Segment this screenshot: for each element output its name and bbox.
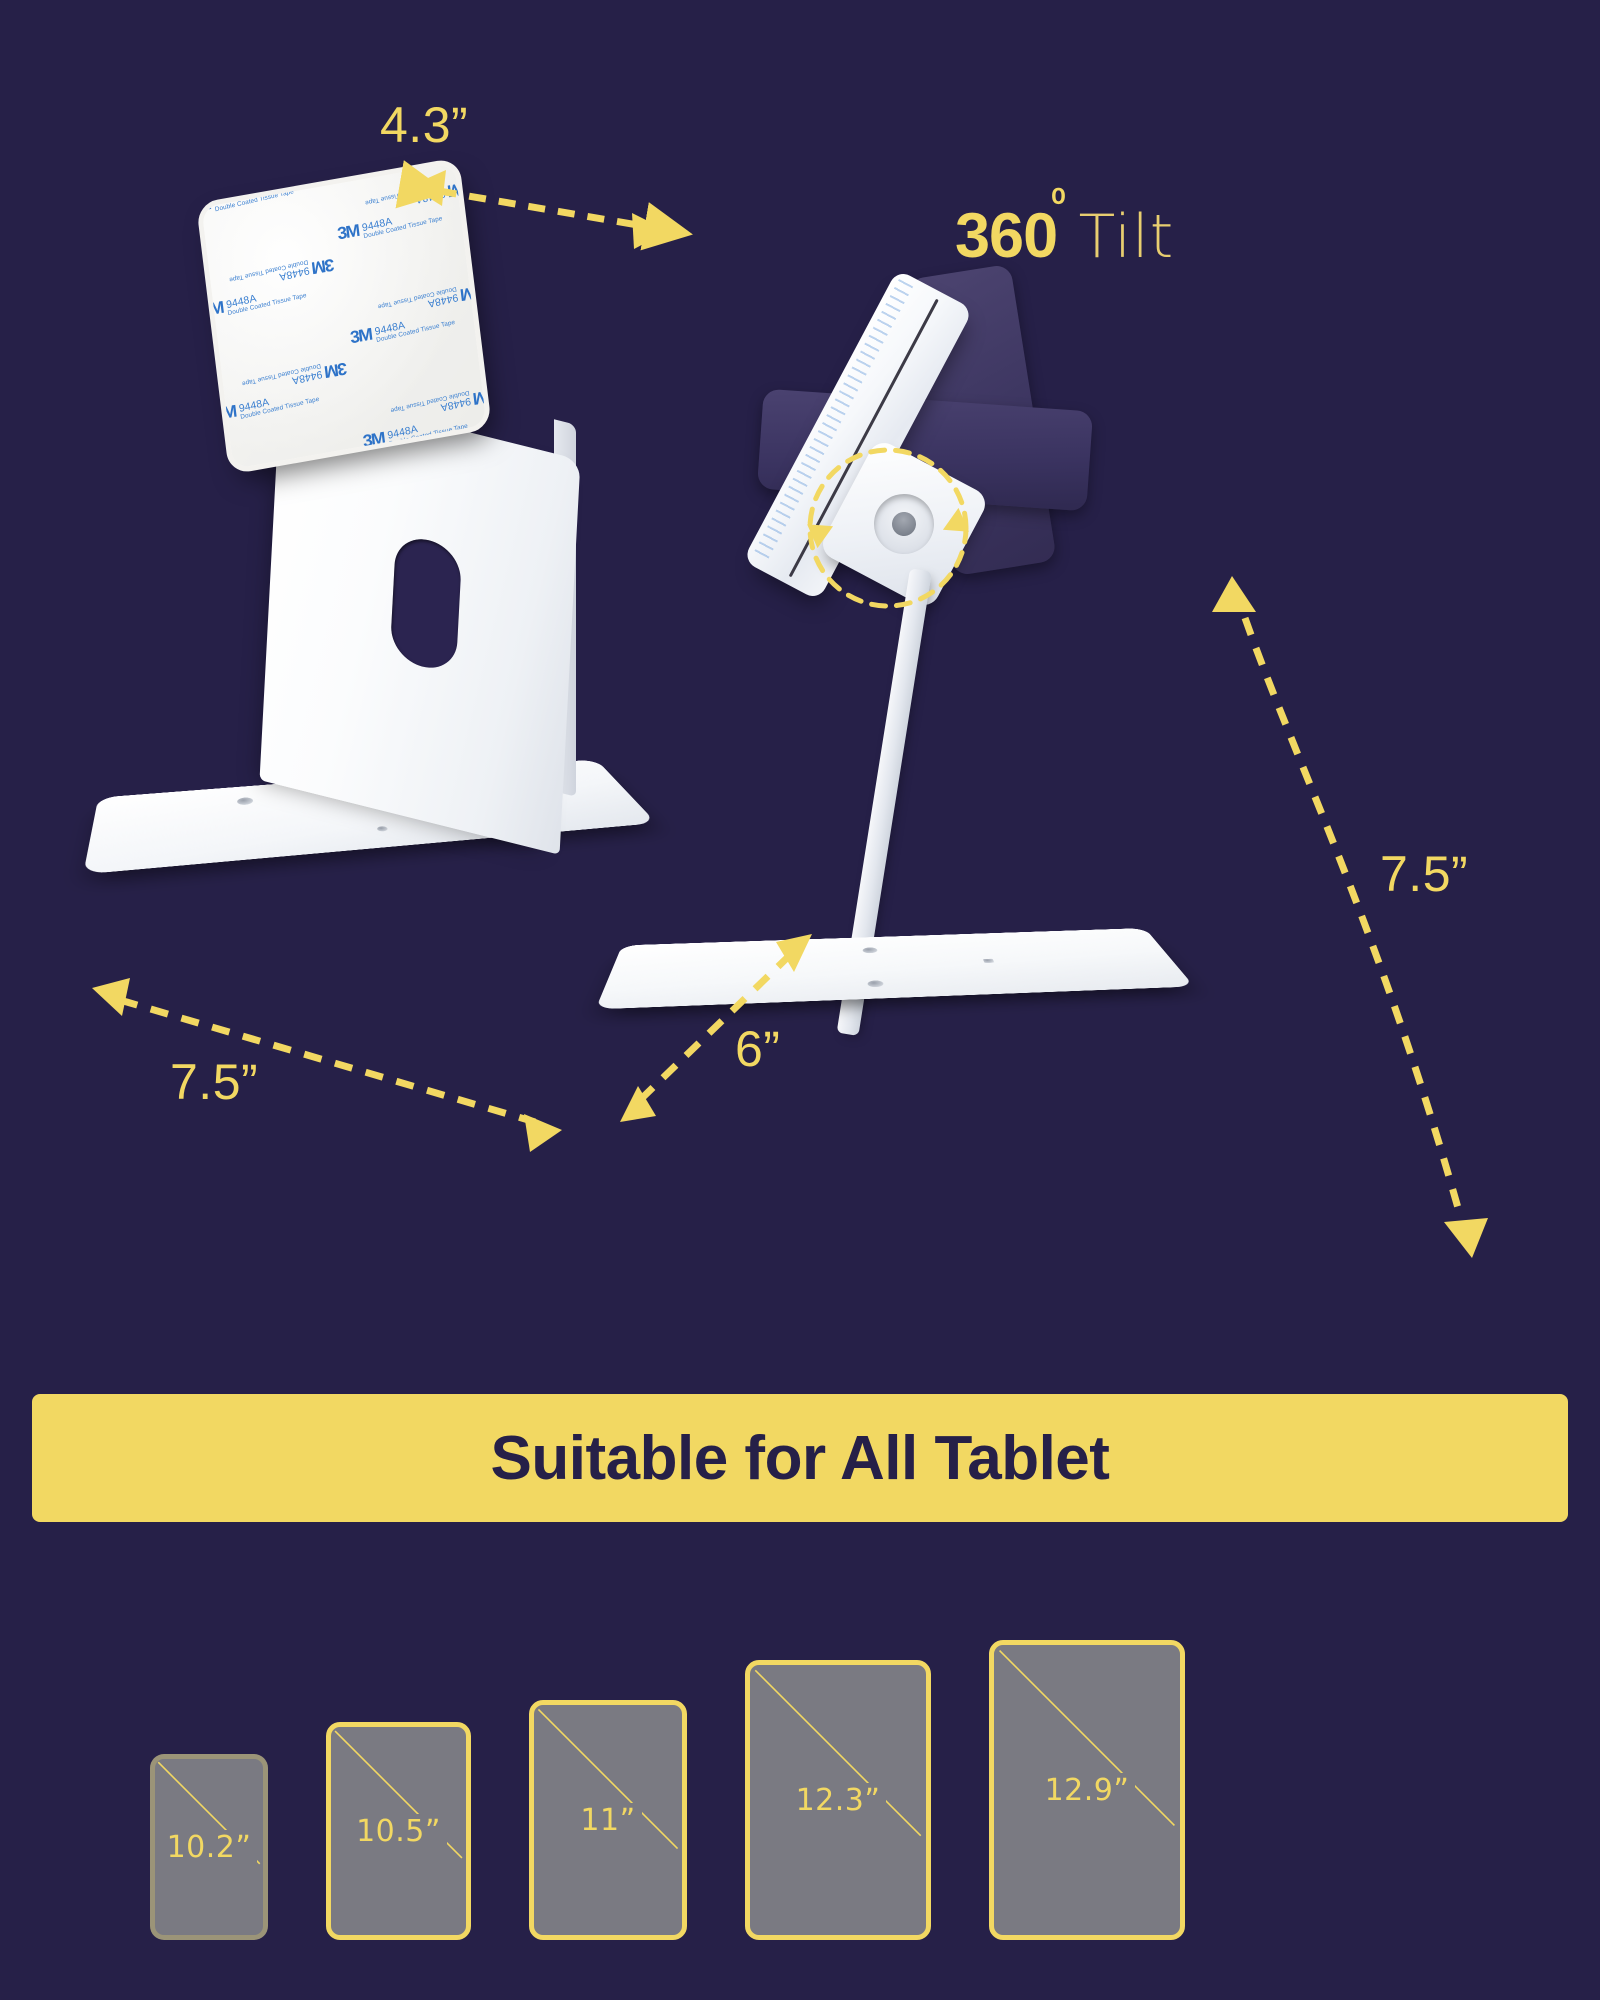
dimension-label-base-width: 7.5” bbox=[170, 1053, 258, 1111]
tilt-heading: 360⁰ Tilt bbox=[955, 205, 1174, 268]
tilt-degrees-value: 360 bbox=[955, 201, 1057, 271]
tablet-size-row: 10.2”10.5”11”12.3”12.9” bbox=[150, 1580, 1450, 1940]
degree-symbol-icon: ⁰ bbox=[1051, 182, 1064, 223]
tape-print-pattern: 3M9448ADouble Coated Tissue Tape3M9448AD… bbox=[196, 157, 492, 475]
tilt-degrees: 360⁰ bbox=[955, 205, 1065, 268]
3m-logo-icon: 3M bbox=[448, 179, 471, 200]
dimension-label-width-top: 4.3” bbox=[380, 96, 468, 154]
product-tilt-view bbox=[760, 250, 1520, 1110]
3m-logo-icon: 3M bbox=[349, 326, 372, 347]
mounting-hole-icon bbox=[376, 826, 388, 832]
3m-logo-icon: 3M bbox=[362, 429, 385, 450]
tablet-size-label: 10.5” bbox=[350, 1814, 447, 1849]
3m-logo-icon: 3M bbox=[473, 386, 492, 407]
mounting-hole-icon bbox=[862, 947, 877, 953]
mounting-hole-icon bbox=[867, 980, 884, 987]
tablet-size-label: 11” bbox=[574, 1803, 641, 1838]
product-front-view: 3M9448ADouble Coated Tissue Tape3M9448AD… bbox=[80, 150, 760, 1050]
3m-logo-icon: 3M bbox=[201, 299, 224, 320]
arrow-head-icon bbox=[1444, 1218, 1488, 1258]
tablet-size-box[interactable]: 10.2” bbox=[150, 1754, 268, 1940]
tilt-label: Tilt bbox=[1079, 207, 1175, 267]
tablet-size-box[interactable]: 12.3” bbox=[745, 1660, 931, 1940]
arrow-head-icon bbox=[524, 1114, 562, 1152]
3m-logo-icon: 3M bbox=[312, 256, 335, 277]
tablet-size-box[interactable]: 11” bbox=[529, 1700, 687, 1940]
tablet-size-box[interactable]: 12.9” bbox=[989, 1640, 1185, 1940]
cable-slot-icon bbox=[390, 532, 463, 675]
3m-logo-icon: 3M bbox=[325, 360, 348, 381]
compatibility-banner: Suitable for All Tablet bbox=[32, 1394, 1568, 1522]
dimension-label-base-depth: 6” bbox=[735, 1020, 780, 1078]
dimension-label-height: 7.5” bbox=[1380, 845, 1468, 903]
tablet-size-label: 10.2” bbox=[161, 1830, 258, 1865]
3m-logo-icon: 3M bbox=[336, 222, 359, 243]
adhesive-mount-plate: 3M9448ADouble Coated Tissue Tape3M9448AD… bbox=[196, 157, 492, 475]
tablet-size-label: 12.3” bbox=[790, 1783, 887, 1818]
tablet-size-label: 12.9” bbox=[1039, 1773, 1136, 1808]
infographic-canvas: 3M9448ADouble Coated Tissue Tape3M9448AD… bbox=[0, 0, 1600, 2000]
tape-product-description: Double Coated Tissue Tape bbox=[214, 189, 294, 214]
3m-logo-icon: 3M bbox=[213, 403, 236, 424]
mounting-hole-icon bbox=[983, 959, 995, 963]
tablet-size-box[interactable]: 10.5” bbox=[326, 1722, 471, 1940]
arrow-head-icon bbox=[620, 1086, 656, 1122]
3m-logo-icon: 3M bbox=[460, 283, 483, 304]
tape-text-block: 9448ADouble Coated Tissue Tape bbox=[212, 178, 294, 214]
mounting-hole-icon bbox=[237, 797, 254, 805]
3m-logo-icon: 3M bbox=[196, 195, 211, 216]
banner-title: Suitable for All Tablet bbox=[491, 1423, 1110, 1494]
